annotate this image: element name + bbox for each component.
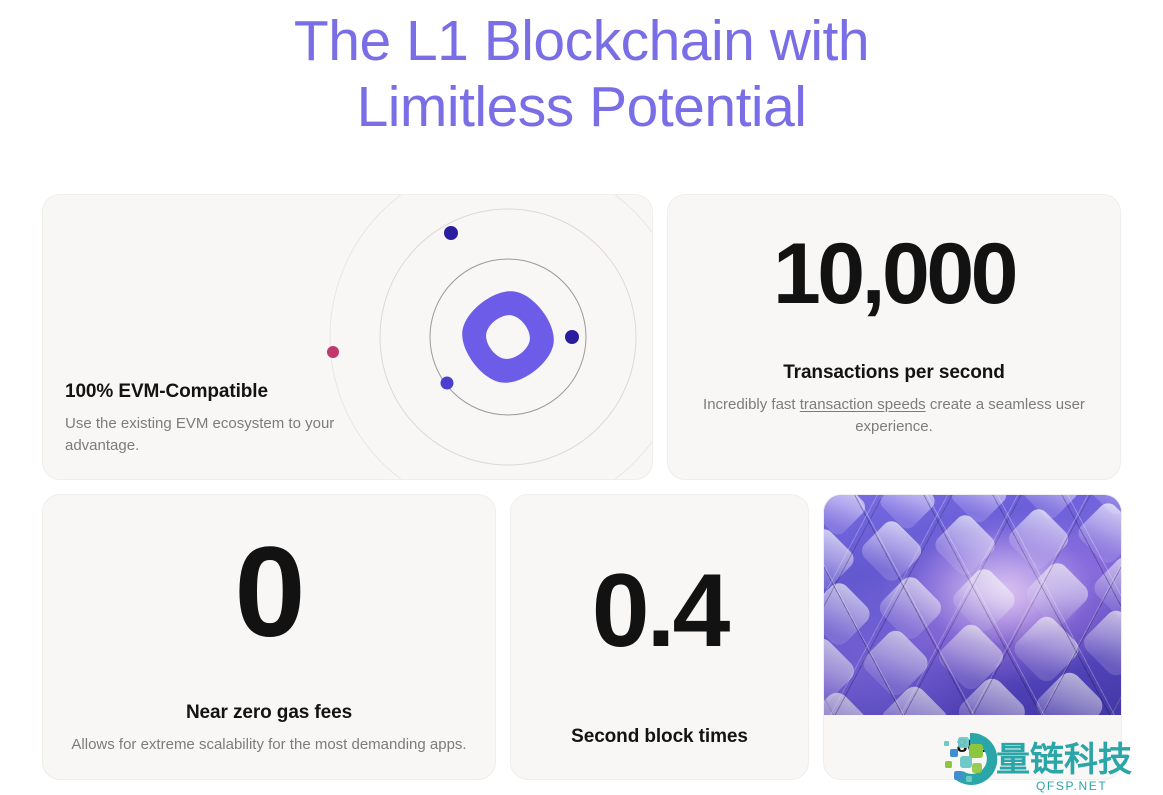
card-evm-compatible[interactable]: 100% EVM-Compatible Use the existing EVM…	[42, 194, 653, 480]
block-time-number: 0.4	[592, 559, 728, 663]
tps-number: 10,000	[773, 231, 1015, 317]
gas-label: Near zero gas fees	[186, 701, 352, 725]
isometric-tile-grid-image	[824, 495, 1121, 715]
block-time-label: Second block times	[571, 725, 748, 749]
card-near-zero-gas-fees[interactable]: 0 Near zero gas fees Allows for extreme …	[42, 494, 496, 780]
card-validators[interactable]: 800	[823, 494, 1122, 780]
stats-card-grid: 100% EVM-Compatible Use the existing EVM…	[42, 194, 1121, 780]
watermark-text-domain: QFSP.NET	[1036, 779, 1107, 793]
tps-label: Transactions per second	[783, 361, 1005, 385]
validators-label: 800	[957, 735, 988, 759]
tps-desc-before: Incredibly fast	[703, 396, 800, 413]
tile-grid-sheen	[824, 495, 1121, 715]
tps-description: Incredibly fast transaction speeds creat…	[694, 394, 1094, 438]
validators-caption-zone: 800	[824, 715, 1121, 779]
gas-number: 0	[234, 529, 303, 657]
gas-description: Allows for extreme scalability for the m…	[71, 734, 466, 756]
page-title: The L1 Blockchain with Limitless Potenti…	[0, 8, 1163, 140]
card-evm-description: Use the existing EVM ecosystem to your a…	[65, 413, 395, 457]
card-second-block-times[interactable]: 0.4 Second block times	[510, 494, 809, 780]
transaction-speeds-link[interactable]: transaction speeds	[800, 396, 926, 413]
card-transactions-per-second[interactable]: 10,000 Transactions per second Incredibl…	[667, 194, 1121, 480]
page-root: The L1 Blockchain with Limitless Potenti…	[0, 0, 1163, 795]
card-evm-text: 100% EVM-Compatible Use the existing EVM…	[65, 380, 395, 457]
card-evm-title: 100% EVM-Compatible	[65, 380, 395, 404]
stats-row-2: 0 Near zero gas fees Allows for extreme …	[42, 494, 1121, 780]
